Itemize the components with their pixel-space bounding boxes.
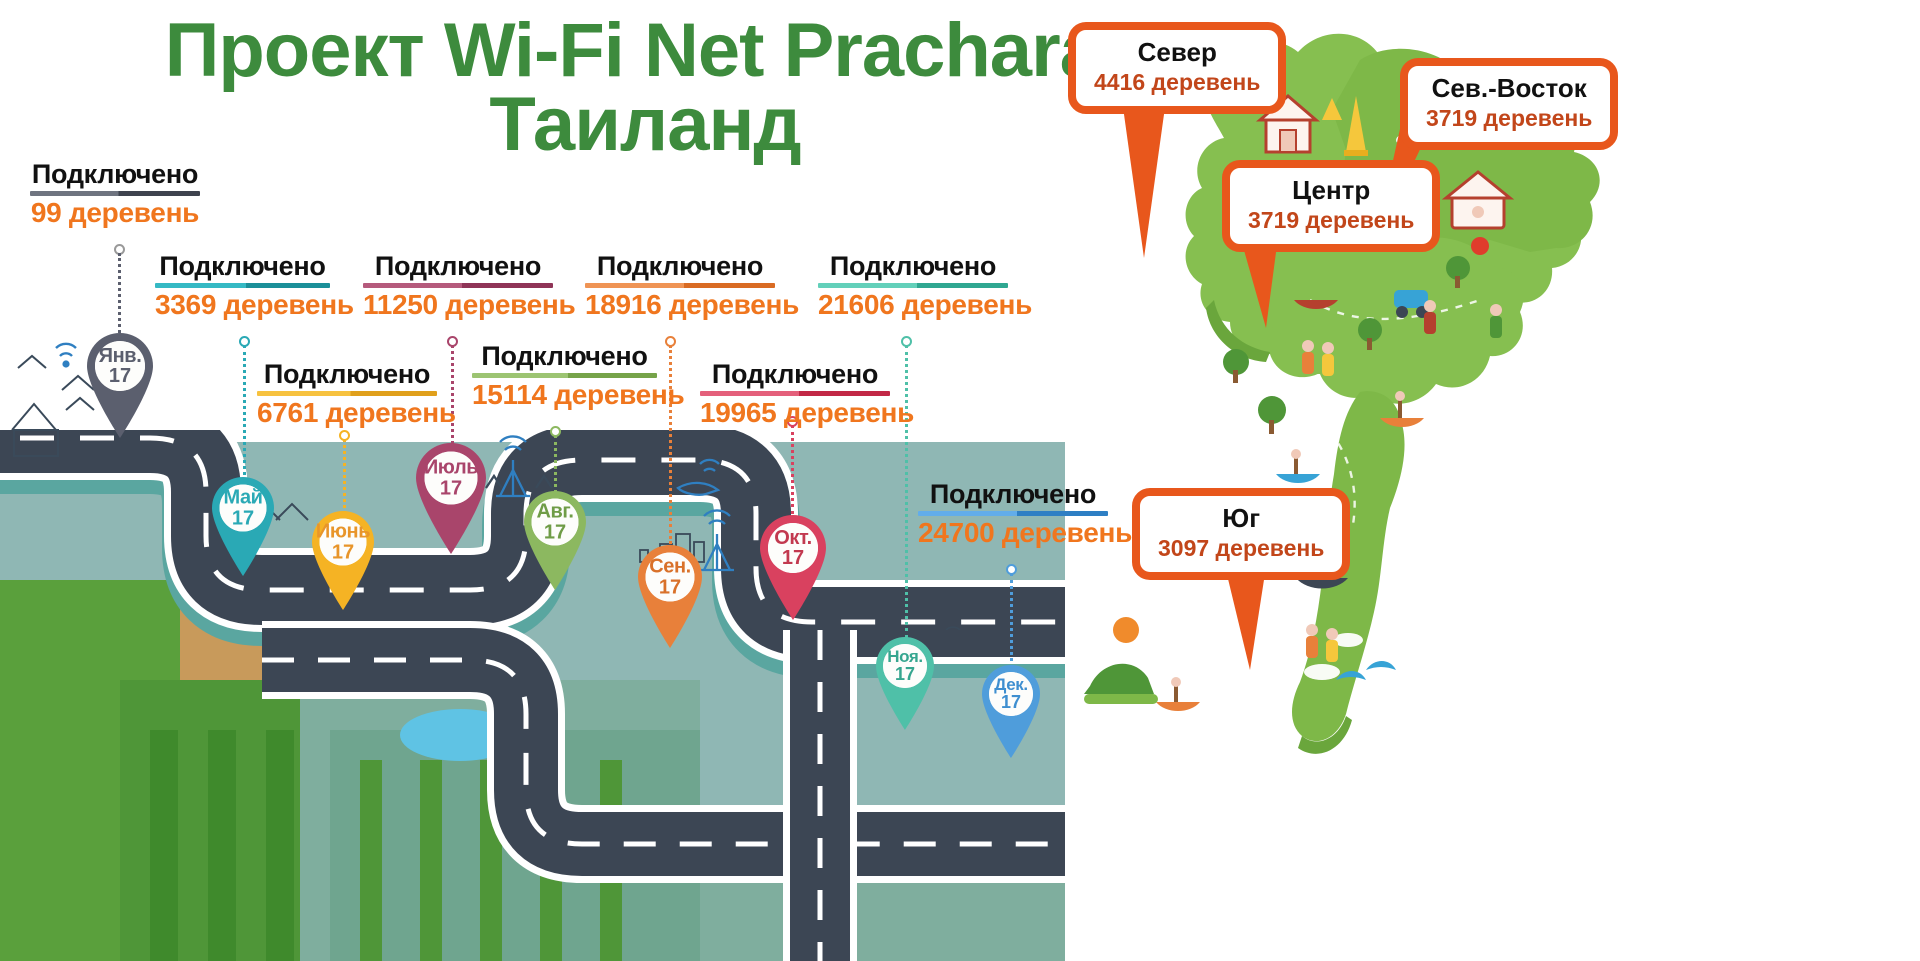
pin-month: Май: [223, 488, 262, 508]
callout-box: Сев.-Восток 3719 деревень: [1400, 58, 1618, 150]
infographic-canvas: Подключено 99 деревень Подключено 3369 д…: [0, 0, 1920, 961]
callout-pointer-north: [1114, 100, 1174, 260]
pin-month: Июнь: [316, 522, 370, 542]
connected-caption: Подключено: [700, 360, 890, 388]
milestone-label-jan: Подключено 99 деревень: [30, 160, 200, 229]
accent-bar: [818, 283, 1008, 288]
pin-year: 17: [782, 548, 804, 568]
connected-value: 3369 деревень: [155, 290, 330, 321]
pin-year: 17: [544, 522, 566, 542]
milestone-label-jul: Подключено 11250 деревень: [363, 252, 553, 321]
connected-caption: Подключено: [363, 252, 553, 280]
lead-line-may: [243, 336, 246, 482]
milestone-label-oct: Подключено 19965 деревень: [700, 360, 890, 429]
region-name: Центр: [1248, 176, 1414, 205]
connected-caption: Подключено: [257, 360, 437, 388]
connected-caption: Подключено: [30, 160, 200, 188]
pin-year: 17: [659, 577, 681, 597]
region-callout-north[interactable]: Север 4416 деревень: [1068, 22, 1286, 114]
title-line-1: Проект Wi-Fi Net Pracharat: [165, 8, 1125, 93]
accent-bar: [700, 391, 890, 396]
pin-month: Окт.: [774, 528, 812, 548]
timeline-pin-jan[interactable]: Янв. 17: [85, 330, 155, 414]
timeline-pin-oct[interactable]: Окт. 17: [758, 512, 828, 596]
accent-bar: [155, 283, 330, 288]
accent-bar: [257, 391, 437, 396]
connected-value: 6761 деревень: [257, 398, 437, 429]
region-callout-central[interactable]: Центр 3719 деревень: [1222, 160, 1440, 252]
pin-label: Ноя. 17: [883, 644, 927, 688]
milestone-label-aug: Подключено 15114 деревень: [472, 342, 657, 411]
pin-month: Дек.: [994, 676, 1027, 693]
timeline-pin-nov[interactable]: Ноя. 17: [874, 634, 936, 710]
timeline-pin-jun[interactable]: Июнь 17: [310, 508, 376, 588]
timeline-pin-aug[interactable]: Авг. 17: [522, 488, 588, 568]
accent-bar: [585, 283, 775, 288]
connected-value: 19965 деревень: [700, 398, 890, 429]
pin-month: Сен.: [649, 557, 691, 577]
pin-label: Авг. 17: [532, 499, 579, 546]
connected-caption: Подключено: [818, 252, 1008, 280]
region-value: 3097 деревень: [1158, 535, 1324, 563]
connected-caption: Подключено: [472, 342, 657, 370]
pin-month: Янв.: [99, 346, 142, 366]
region-value: 3719 деревень: [1426, 105, 1592, 133]
region-value: 4416 деревень: [1094, 69, 1260, 97]
callout-box: Север 4416 деревень: [1068, 22, 1286, 114]
timeline-pin-may[interactable]: Май 17: [210, 474, 276, 554]
pin-label: Дек. 17: [989, 672, 1033, 716]
pin-year: 17: [1001, 693, 1021, 711]
region-callout-south[interactable]: Юг 3097 деревень: [1132, 488, 1350, 580]
region-value: 3719 деревень: [1248, 207, 1414, 235]
pin-month: Июль: [424, 458, 478, 478]
pin-year: 17: [895, 665, 915, 683]
pin-label: Май 17: [220, 485, 267, 532]
pin-label: Июнь 17: [320, 519, 367, 566]
lead-line-dec: [1010, 564, 1013, 668]
lead-line-jul: [451, 336, 454, 450]
lead-line-jun: [343, 430, 346, 520]
region-callout-northeast[interactable]: Сев.-Восток 3719 деревень: [1400, 58, 1618, 150]
milestone-label-may: Подключено 3369 деревень: [155, 252, 330, 321]
region-name: Юг: [1158, 504, 1324, 533]
callout-box: Юг 3097 деревень: [1132, 488, 1350, 580]
connected-caption: Подключено: [585, 252, 775, 280]
timeline-pin-jul[interactable]: Июль 17: [414, 440, 488, 530]
milestone-label-sep: Подключено 18916 деревень: [585, 252, 775, 321]
timeline-pin-dec[interactable]: Дек. 17: [980, 662, 1042, 738]
timeline-pin-sep[interactable]: Сен. 17: [636, 542, 704, 624]
region-name: Север: [1094, 38, 1260, 67]
connected-value: 15114 деревень: [472, 380, 657, 411]
milestone-label-nov: Подключено 21606 деревень: [818, 252, 1008, 321]
lead-line-oct: [791, 416, 794, 514]
accent-bar: [363, 283, 553, 288]
connected-value: 18916 деревень: [585, 290, 775, 321]
connected-caption: Подключено: [155, 252, 330, 280]
pin-year: 17: [440, 478, 462, 498]
pin-label: Окт. 17: [768, 523, 818, 573]
region-name: Сев.-Восток: [1426, 74, 1592, 103]
accent-bar: [472, 373, 657, 378]
connected-value: 99 деревень: [30, 198, 200, 229]
pin-month: Авг.: [536, 502, 573, 522]
callout-box: Центр 3719 деревень: [1222, 160, 1440, 252]
lead-line-sep: [669, 336, 672, 544]
pin-year: 17: [332, 542, 354, 562]
connected-value: 21606 деревень: [818, 290, 1008, 321]
accent-bar: [30, 191, 200, 196]
connected-value: 11250 деревень: [363, 290, 553, 321]
pin-label: Сен. 17: [646, 553, 695, 602]
lead-line-nov: [905, 336, 908, 638]
milestone-label-jun: Подключено 6761 деревень: [257, 360, 437, 429]
lead-line-jan: [118, 244, 121, 338]
pin-year: 17: [109, 366, 131, 386]
pin-year: 17: [232, 508, 254, 528]
pin-month: Ноя.: [887, 648, 922, 665]
pin-label: Июль 17: [425, 452, 478, 505]
pin-label: Янв. 17: [95, 341, 145, 391]
